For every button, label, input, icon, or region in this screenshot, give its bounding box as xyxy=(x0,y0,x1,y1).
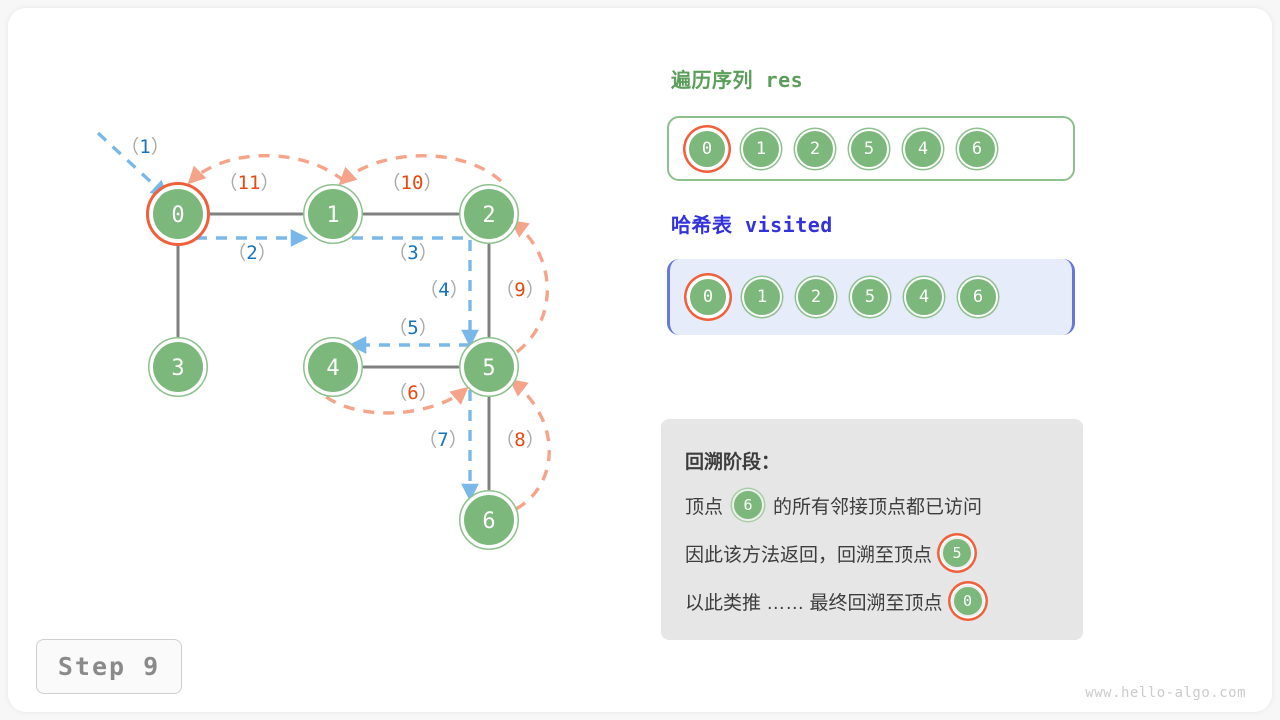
visited-item-label: 0 xyxy=(688,277,728,317)
graph-node-4[interactable]: 4 xyxy=(304,338,362,396)
res-item-3[interactable]: 5 xyxy=(849,129,889,169)
note-chip-0: 0 xyxy=(952,585,984,617)
node-label: 2 xyxy=(482,203,495,228)
step-label-5: （5） xyxy=(388,317,437,339)
step-label-3: （3） xyxy=(388,242,437,264)
step-label-9: （9） xyxy=(495,279,544,301)
step-label-8: （8） xyxy=(495,429,544,451)
visited-hashset-box: 0 1 2 5 4 6 xyxy=(667,259,1075,335)
step-label-1: （1） xyxy=(120,136,169,158)
visited-item-1[interactable]: 1 xyxy=(742,277,782,317)
graph-node-1[interactable]: 1 xyxy=(304,185,362,243)
visited-item-3[interactable]: 5 xyxy=(850,277,890,317)
visited-item-label: 6 xyxy=(958,277,998,317)
note-chip-5: 5 xyxy=(941,537,973,569)
node-label: 3 xyxy=(171,356,184,381)
graph-node-3[interactable]: 3 xyxy=(149,338,207,396)
res-item-label: 2 xyxy=(795,129,835,169)
note-line-2: 因此该方法返回，回溯至顶点 5 xyxy=(685,529,1059,577)
res-item-1[interactable]: 1 xyxy=(741,129,781,169)
note-line-1: 顶点 6 的所有邻接顶点都已访问 xyxy=(685,481,1059,529)
note-line-3-text: 以此类推 …… 最终回溯至顶点 xyxy=(685,588,943,615)
res-item-0[interactable]: 0 xyxy=(687,129,727,169)
visited-item-5[interactable]: 6 xyxy=(958,277,998,317)
res-title: 遍历序列 res xyxy=(671,64,803,93)
step-label-4: （4） xyxy=(419,279,468,301)
res-item-2[interactable]: 2 xyxy=(795,129,835,169)
visited-item-label: 1 xyxy=(742,277,782,317)
res-item-label: 5 xyxy=(849,129,889,169)
node-label: 1 xyxy=(326,203,339,228)
step-label-6: （6） xyxy=(388,382,437,404)
res-item-label: 1 xyxy=(741,129,781,169)
visited-item-0[interactable]: 0 xyxy=(688,277,728,317)
node-label: 4 xyxy=(326,356,339,381)
note-chip-label: 5 xyxy=(941,537,973,569)
graph-node-5[interactable]: 5 xyxy=(460,338,518,396)
res-item-label: 4 xyxy=(903,129,943,169)
step-badge: Step 9 xyxy=(36,639,182,694)
visited-item-4[interactable]: 4 xyxy=(904,277,944,317)
visited-item-label: 5 xyxy=(850,277,890,317)
note-heading: 回溯阶段： xyxy=(685,439,1059,481)
res-item-4[interactable]: 4 xyxy=(903,129,943,169)
note-chip-label: 0 xyxy=(952,585,984,617)
watermark: www.hello-algo.com xyxy=(1085,685,1246,701)
note-chip-label: 6 xyxy=(732,489,764,521)
note-line-2-text: 因此该方法返回，回溯至顶点 xyxy=(685,540,932,567)
res-item-5[interactable]: 6 xyxy=(957,129,997,169)
node-label: 0 xyxy=(171,203,184,228)
visited-item-label: 4 xyxy=(904,277,944,317)
graph-diagram: 0 1 2 3 xyxy=(0,0,640,720)
visited-item-2[interactable]: 2 xyxy=(796,277,836,317)
note-line-1-text-a: 顶点 xyxy=(685,492,723,519)
res-array-box: 0 1 2 5 4 6 xyxy=(667,116,1075,181)
node-label: 6 xyxy=(482,509,495,534)
visited-item-label: 2 xyxy=(796,277,836,317)
note-line-3: 以此类推 …… 最终回溯至顶点 0 xyxy=(685,577,1059,625)
graph-node-6[interactable]: 6 xyxy=(460,491,518,549)
step-label-11: （11） xyxy=(219,172,280,194)
step-label-2: （2） xyxy=(227,242,276,264)
visited-title: 哈希表 visited xyxy=(671,209,833,238)
node-label: 5 xyxy=(482,356,495,381)
step-label-10: （10） xyxy=(382,172,443,194)
res-item-label: 0 xyxy=(687,129,727,169)
step-label-7: （7） xyxy=(418,429,467,451)
screenshot-root: 0 1 2 3 xyxy=(0,0,1280,720)
note-line-1-text-b: 的所有邻接顶点都已访问 xyxy=(773,492,982,519)
note-chip-6: 6 xyxy=(732,489,764,521)
res-item-label: 6 xyxy=(957,129,997,169)
backtracking-note-box: 回溯阶段： 顶点 6 的所有邻接顶点都已访问 因此该方法返回，回溯至顶点 5 以… xyxy=(661,419,1083,640)
graph-node-2[interactable]: 2 xyxy=(460,185,518,243)
graph-node-0[interactable]: 0 xyxy=(148,184,209,245)
